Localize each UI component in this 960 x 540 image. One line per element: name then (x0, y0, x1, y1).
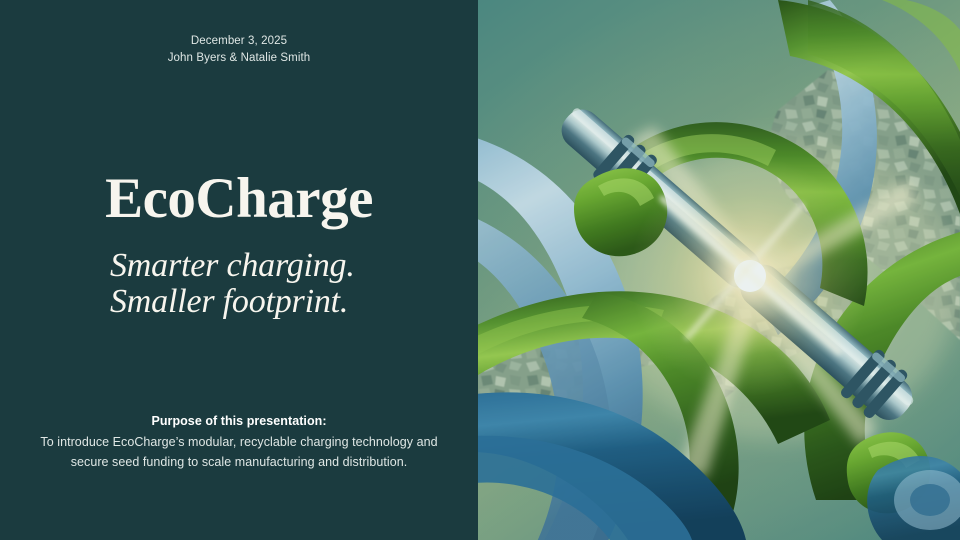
title-block: EcoCharge (0, 168, 478, 230)
left-text-panel: December 3, 2025 John Byers & Natalie Sm… (0, 0, 478, 540)
hero-illustration-graphic (478, 0, 960, 540)
slide-meta: December 3, 2025 John Byers & Natalie Sm… (0, 33, 478, 67)
presentation-date: December 3, 2025 (0, 33, 478, 50)
hero-image (478, 0, 960, 540)
presenter-names: John Byers & Natalie Smith (0, 50, 478, 67)
tagline-block: Smarter charging. Smaller footprint. (110, 248, 440, 320)
tagline-line-1: Smarter charging. (110, 248, 440, 284)
title-slide: December 3, 2025 John Byers & Natalie Sm… (0, 0, 960, 540)
page-title: EcoCharge (0, 168, 478, 230)
purpose-block: Purpose of this presentation: To introdu… (39, 412, 439, 472)
tagline-line-2: Smaller footprint. (110, 284, 440, 320)
purpose-body: To introduce EcoCharge’s modular, recycl… (39, 432, 439, 472)
purpose-heading: Purpose of this presentation: (39, 412, 439, 431)
